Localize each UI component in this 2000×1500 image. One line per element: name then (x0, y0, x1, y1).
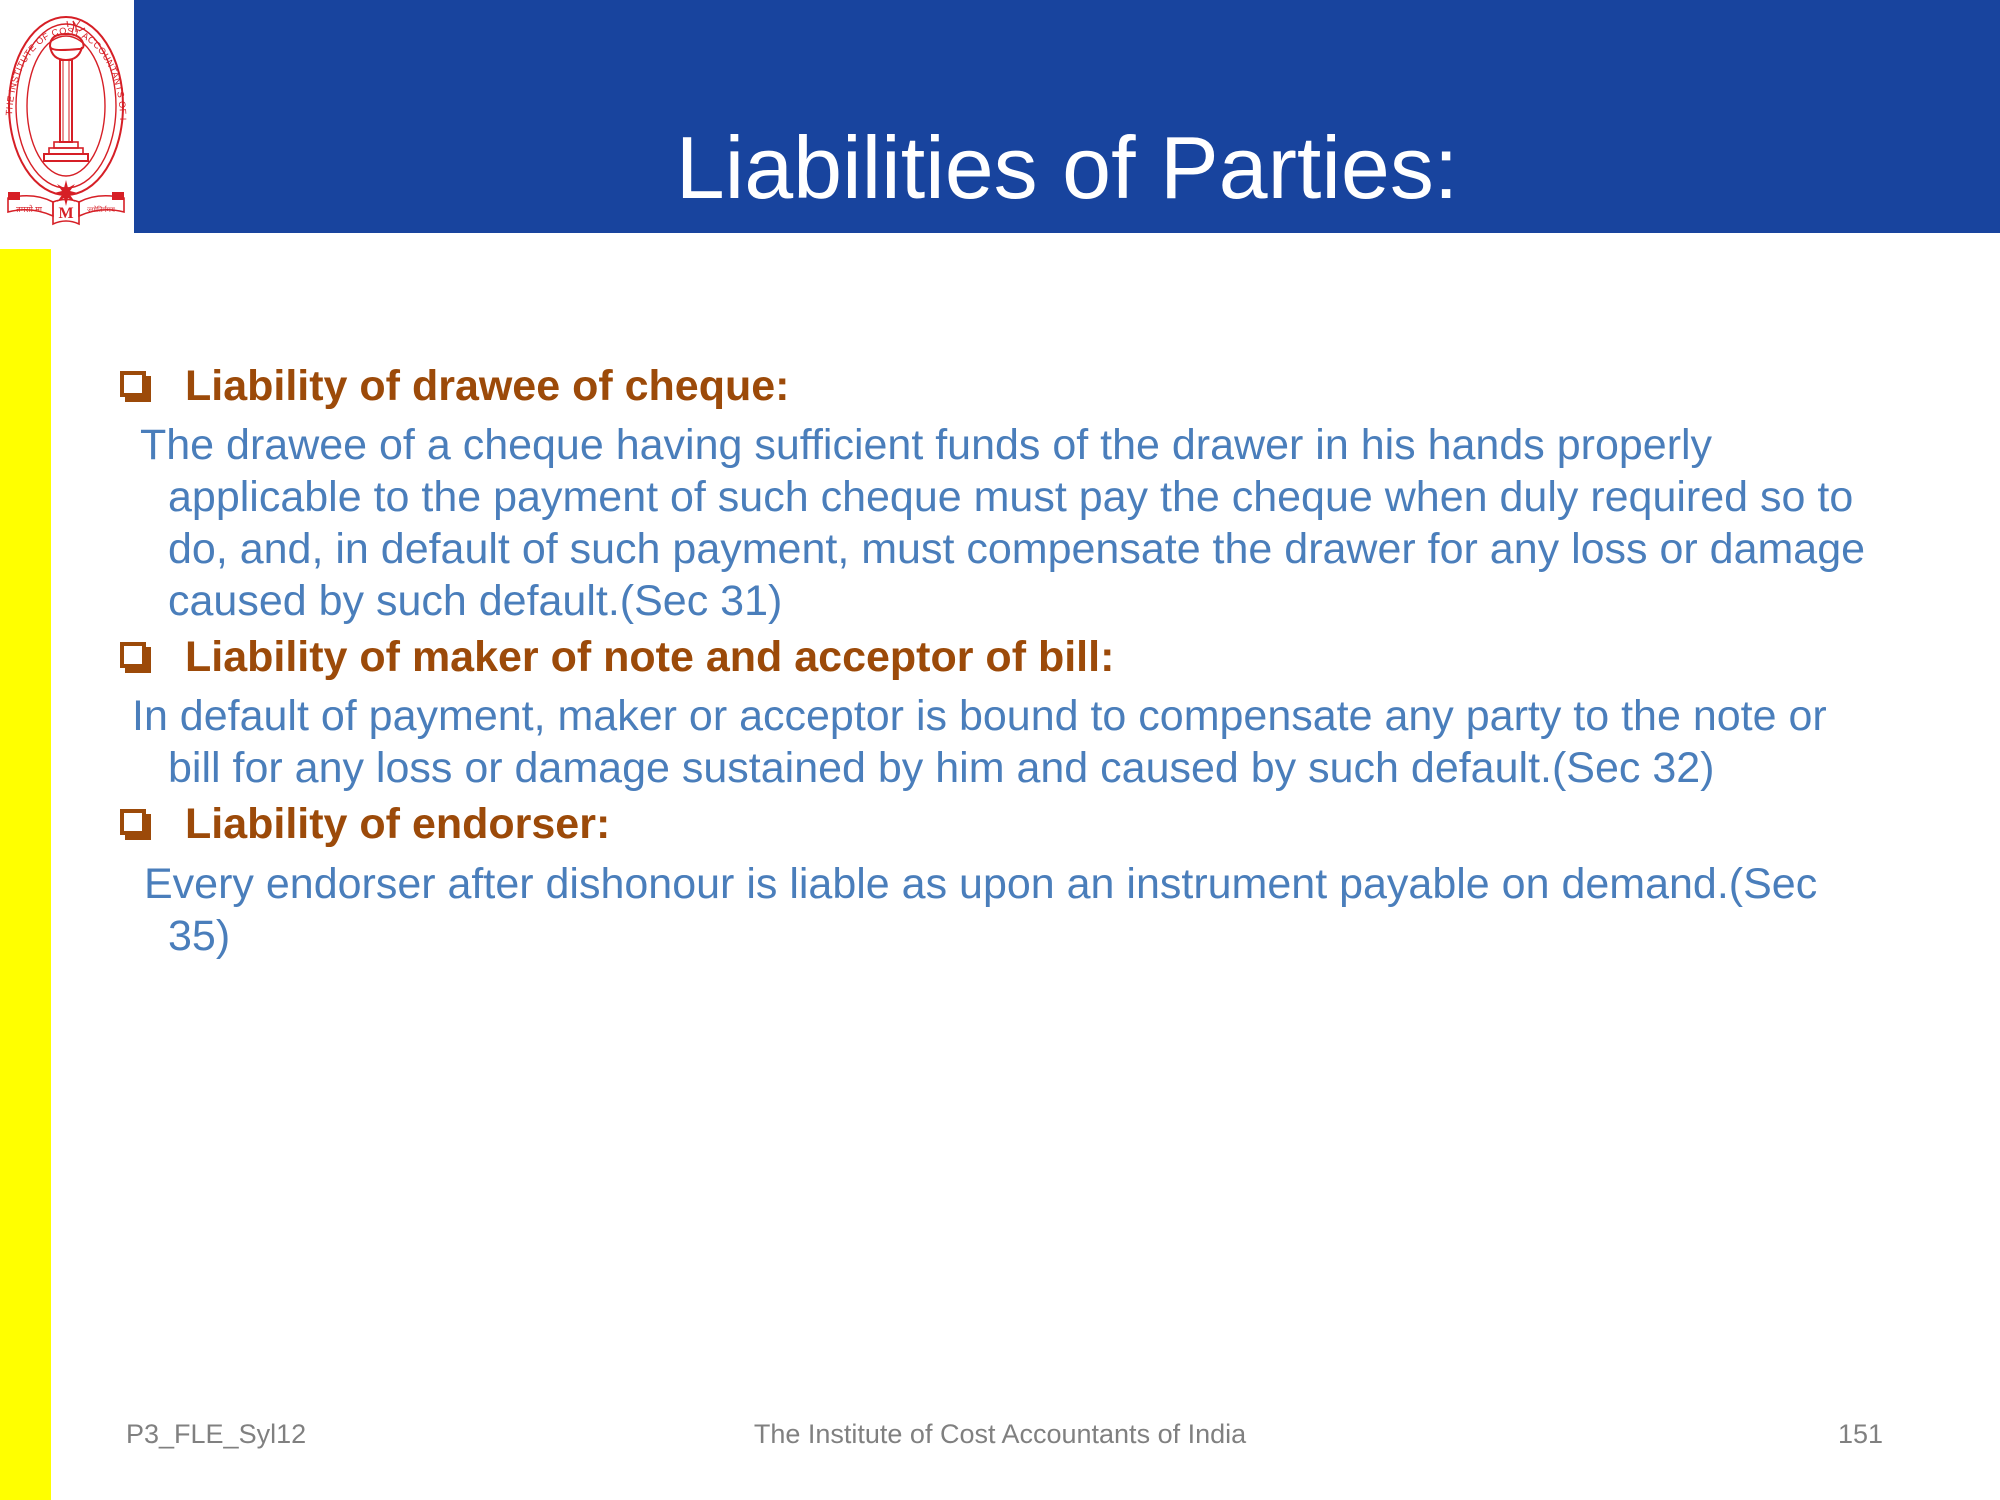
slide-content: Liability of drawee of cheque: The drawe… (110, 362, 1910, 968)
slide-footer: P3_FLE_Syl12 The Institute of Cost Accou… (0, 1408, 2000, 1460)
bullet-heading-2: Liability of maker of note and acceptor … (110, 633, 1910, 681)
square-bullet-icon (120, 809, 146, 835)
square-bullet-icon (120, 642, 146, 668)
body-paragraph-3: Every endorser after dishonour is liable… (110, 858, 1883, 962)
svg-text:M: M (58, 205, 73, 222)
page-title: Liabilities of Parties: (134, 59, 2000, 292)
svg-text:THE INSTITUTE OF COST ACCOUNTA: THE INSTITUTE OF COST ACCOUNTANTS OF IND… (2, 2, 128, 121)
institute-logo: THE INSTITUTE OF COST ACCOUNTANTS OF IND… (2, 2, 130, 230)
bullet-heading-3-label: Liability of endorser: (185, 800, 610, 848)
bullet-heading-3: Liability of endorser: (110, 800, 1910, 848)
institute-logo-icon: THE INSTITUTE OF COST ACCOUNTANTS OF IND… (2, 2, 130, 230)
footer-institute-name: The Institute of Cost Accountants of Ind… (0, 1419, 2000, 1450)
yellow-accent-bar (0, 249, 51, 1500)
bullet-heading-1: Liability of drawee of cheque: (110, 362, 1910, 410)
body-paragraph-2: In default of payment, maker or acceptor… (110, 690, 1883, 794)
svg-text:तमसो मा: तमसो मा (16, 204, 43, 214)
footer-page-number: 151 (1838, 1419, 1883, 1450)
bullet-heading-1-label: Liability of drawee of cheque: (185, 362, 789, 410)
square-bullet-icon (120, 371, 146, 397)
svg-text:ज्योतिर्गमय: ज्योतिर्गमय (87, 205, 116, 214)
bullet-heading-2-label: Liability of maker of note and acceptor … (185, 633, 1114, 681)
body-paragraph-1: The drawee of a cheque having sufficient… (110, 419, 1883, 627)
